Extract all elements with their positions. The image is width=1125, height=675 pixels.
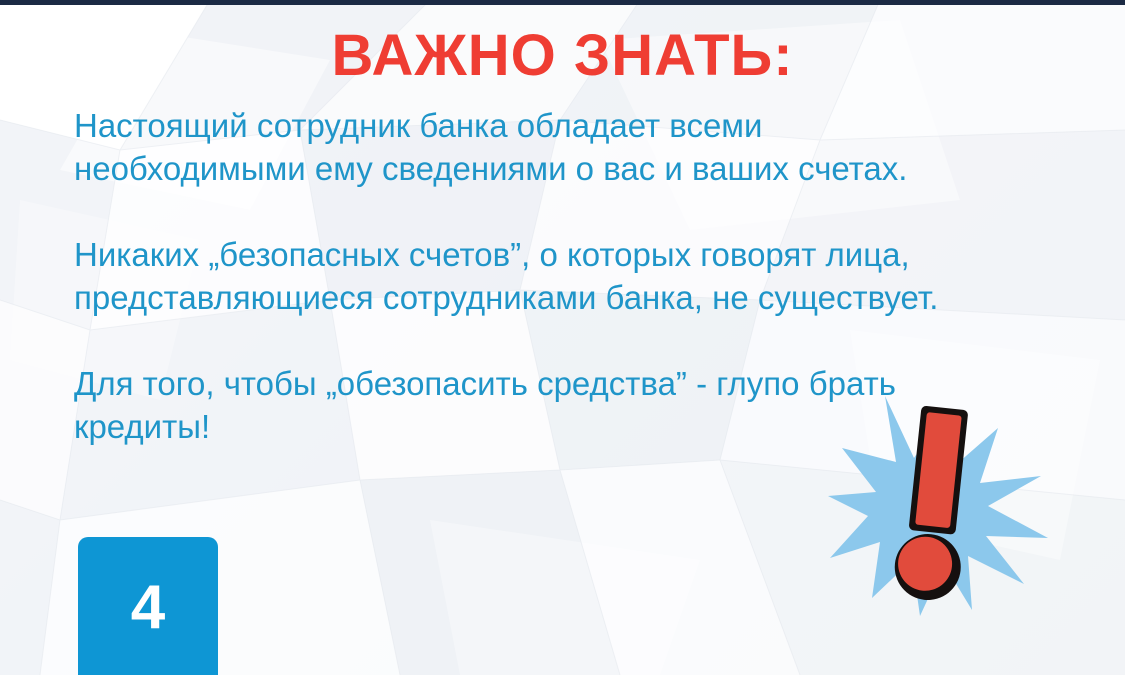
page-title: ВАЖНО ЗНАТЬ:	[0, 22, 1125, 89]
exclamation-burst-icon	[828, 388, 1053, 623]
slide-number-value: 4	[131, 577, 165, 639]
paragraph-1: Настоящий сотрудник банка обладает всеми…	[74, 104, 974, 190]
slide-number-badge: 4	[78, 537, 218, 675]
paragraph-2: Никаких „безопасных счетов”, о которых г…	[74, 233, 974, 319]
top-border-rule	[0, 0, 1125, 5]
slide-canvas: ВАЖНО ЗНАТЬ: Настоящий сотрудник банка о…	[0, 0, 1125, 675]
